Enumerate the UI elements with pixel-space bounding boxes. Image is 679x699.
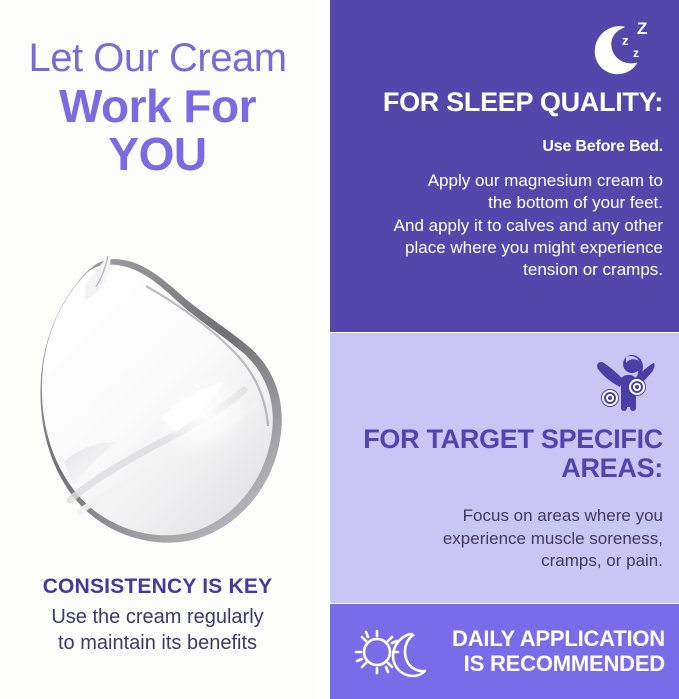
target-icon-row	[346, 351, 663, 413]
sleep-body-line-1: Apply our magnesium cream to	[346, 170, 663, 192]
sleep-body-line-2: the bottom of your feet.	[346, 192, 663, 214]
footer-title: CONSISTENCY IS KEY	[0, 575, 315, 599]
footer-sub-line-1: Use the cream regularly	[0, 605, 315, 631]
headline-line-2: Work For	[0, 82, 315, 130]
right-panel: Z z z FOR SLEEP QUALITY: Use Before Bed.…	[330, 0, 679, 699]
sleep-heading: FOR SLEEP QUALITY:	[346, 88, 663, 116]
sleep-quality-section: Z z z FOR SLEEP QUALITY: Use Before Bed.…	[330, 0, 679, 332]
person-target-areas-icon	[593, 351, 655, 413]
sleep-icon-row: Z z z	[346, 16, 663, 78]
cream-dollop-image	[28, 250, 290, 550]
sleep-body: Apply our magnesium cream to the bottom …	[346, 170, 663, 280]
sleep-body-line-4: place where you might experience	[346, 237, 663, 259]
daily-line-1: DAILY APPLICATION	[436, 627, 665, 652]
cream-dollop-icon	[28, 250, 290, 550]
svg-text:z: z	[622, 33, 629, 48]
svg-text:z: z	[633, 46, 639, 60]
footer-block: CONSISTENCY IS KEY Use the cream regular…	[0, 575, 315, 656]
daily-line-2: IS RECOMMENDED	[436, 652, 665, 677]
target-body-line-3: cramps, or pain.	[346, 550, 663, 572]
headline-block: Let Our Cream Work For YOU	[0, 0, 315, 179]
daily-application-section: DAILY APPLICATION IS RECOMMENDED	[330, 604, 679, 699]
target-body: Focus on areas where you experience musc…	[346, 505, 663, 572]
target-body-line-2: experience muscle soreness,	[346, 528, 663, 550]
sleep-body-line-3: And apply it to calves and any other	[346, 215, 663, 237]
target-heading-line-1: FOR TARGET SPECIFIC	[346, 425, 663, 454]
sleep-body-line-5: tension or cramps.	[346, 259, 663, 281]
target-heading: FOR TARGET SPECIFIC AREAS:	[346, 425, 663, 483]
footer-sub-line-2: to maintain its benefits	[0, 631, 315, 657]
headline-line-3: YOU	[0, 130, 315, 178]
sun-moon-icon	[348, 623, 426, 681]
target-heading-line-2: AREAS:	[346, 454, 663, 483]
moon-zzz-icon: Z z z	[589, 16, 655, 78]
target-body-line-1: Focus on areas where you	[346, 505, 663, 527]
headline-line-1: Let Our Cream	[0, 38, 315, 78]
svg-text:Z: Z	[637, 19, 647, 38]
daily-application-text: DAILY APPLICATION IS RECOMMENDED	[436, 627, 665, 676]
left-panel: Let Our Cream Work For YOU	[0, 0, 315, 699]
sleep-subheading: Use Before Bed.	[346, 138, 663, 156]
target-areas-section: FOR TARGET SPECIFIC AREAS: Focus on area…	[330, 333, 679, 603]
infographic-root: Let Our Cream Work For YOU	[0, 0, 679, 699]
